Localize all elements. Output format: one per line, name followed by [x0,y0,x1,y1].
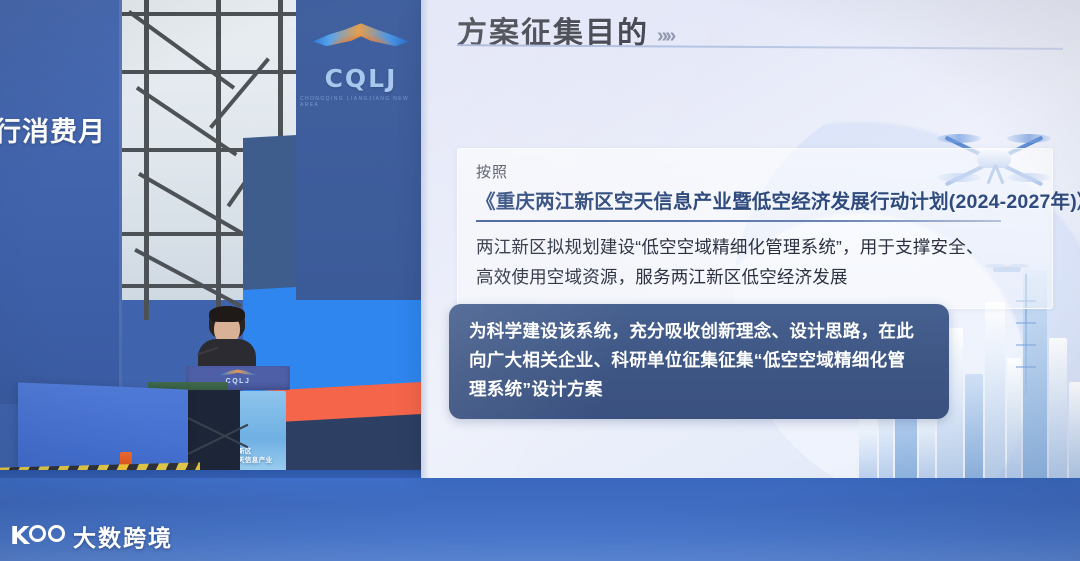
card-body-line1: 两江新区拟规划建设“低空空域精细化管理系统”，用于支撑安全、 [476,232,1036,262]
policy-card: 按照 《重庆两江新区空天信息产业暨低空经济发展行动计划(2024-2027年)》… [457,148,1053,309]
card-body-text: 两江新区拟规划建设“低空空域精细化管理系统”，用于支撑安全、 高效使用空域资源，… [476,232,1036,292]
highlight-line2: 向广大相关企业、科研单位征集征集“低空空域精细化管 [469,346,929,375]
podium-wing-icon [219,369,257,378]
card-lead-text: 按照 [476,161,1036,182]
podium-logo-text: CQLJ [226,378,251,385]
highlight-line1: 为科学建设该系统，充分吸收创新理念、设计思路，在此 [469,317,929,346]
document-title-underline [476,220,1001,222]
cqlj-wing-icon [313,18,409,56]
card-body-line2: 高效使用空域资源，服务两江新区低空经济发展 [476,262,1036,292]
cqlj-wordmark: CQLJ [325,64,398,93]
highlight-callout: 为科学建设该系统，充分吸收创新理念、设计思路，在此 向广大相关企业、科研单位征集… [449,304,949,419]
document-title-text: 《重庆两江新区空天信息产业暨低空经济发展行动计划(2024-2027年)》 [476,185,1036,214]
venue-banner-text: 行消费月 [0,110,124,149]
watermark-text: 大数跨境 [73,519,173,553]
cqlj-wall-logo: CQLJ CHONGQING LIANGJIANG NEW AREA [300,18,422,110]
highlight-line3: 理系统”设计方案 [469,375,929,404]
projection-screen: 方案征集目的 »» 按照 《重庆两江新区空天信息产业暨低空经济发展行动计划(20… [421,0,1080,478]
cqlj-tagline: CHONGQING LIANGJIANG NEW AREA [300,96,422,108]
k100-logo-icon: K [10,523,66,549]
presentation-photo: 行消费月 CQLJ CHONGQING LIANGJIANG NEW AREA … [0,0,1080,561]
watermark: K 大数跨境 [10,519,173,553]
venue-banner-panel: 行消费月 [0,0,122,404]
speaker-fringe [209,306,245,322]
chevron-right-icon: »» [657,25,673,52]
